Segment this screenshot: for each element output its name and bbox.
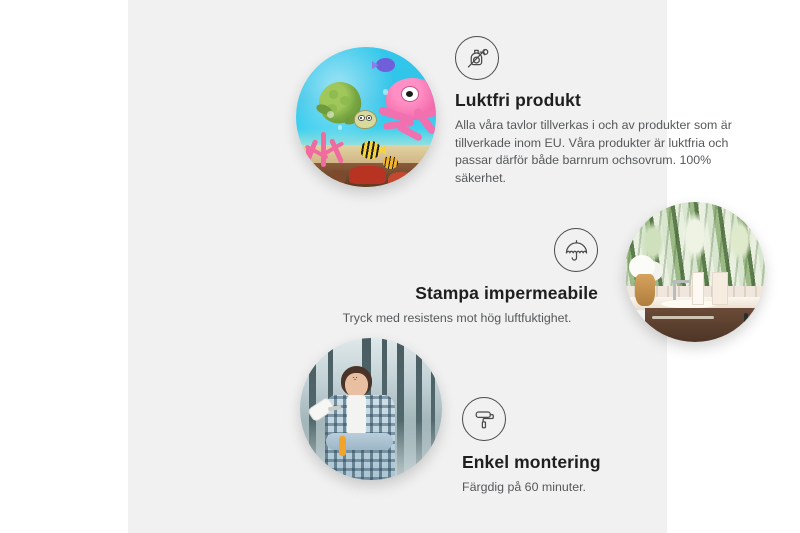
turtle (316, 82, 375, 132)
feature-title: Stampa impermeabile (316, 283, 598, 304)
orange-grip (339, 436, 346, 456)
screenshot-root: Luktfri produkt Alla våra tavlor tillver… (0, 0, 800, 533)
roller-handle (328, 405, 342, 411)
underwater-kids-mural-thumbnail[interactable] (296, 47, 436, 187)
feature-title: Luktfri produkt (455, 90, 755, 111)
woman-painter (320, 364, 400, 480)
woman-with-paint-roller-forest-thumbnail[interactable] (300, 338, 442, 480)
soap-bottle (692, 272, 704, 305)
cabinet-handle (744, 313, 748, 332)
bathroom-tropical-leaf-wallpaper-thumbnail[interactable] (625, 202, 765, 342)
vanity-cabinet (645, 308, 765, 342)
feature-waterproof: Stampa impermeabile Tryck med resistens … (316, 228, 598, 328)
rock-small (330, 170, 347, 183)
feature-description: Tryck med resistens mot hög luftfuktighe… (316, 310, 598, 328)
feature-description: Färgdig på 60 minuter. (462, 479, 742, 497)
drawer-handle (652, 316, 715, 319)
fish-yellow-2 (383, 156, 398, 169)
eye-right (356, 377, 357, 378)
paint-roller-icon (462, 397, 506, 441)
bathroom-scene (625, 202, 765, 342)
feature-description: Alla våra tavlor tillverkas i och av pro… (455, 117, 755, 187)
towel-roll (712, 272, 728, 305)
faucet (673, 280, 676, 300)
forest-scene (300, 338, 442, 480)
underwater-scene (296, 47, 436, 187)
no-odor-perfume-bottle-icon (455, 36, 499, 80)
coral-pink-2 (296, 145, 321, 170)
rock-red-2 (388, 172, 413, 186)
feature-odorless: Luktfri produkt Alla våra tavlor tillver… (455, 36, 755, 187)
smile (354, 379, 357, 380)
flower-vase (628, 255, 662, 305)
octopus-eye (401, 86, 419, 102)
umbrella-icon (554, 228, 598, 272)
feature-title: Enkel montering (462, 452, 742, 473)
feature-easy-mounting: Enkel montering Färgdig på 60 minuter. (462, 397, 742, 497)
turtle-head (354, 110, 377, 129)
eye-left (353, 377, 354, 378)
cabinet-handle-2 (755, 313, 759, 332)
gold-vase (635, 274, 654, 305)
rock-red (349, 166, 385, 184)
content-panel: Luktfri produkt Alla våra tavlor tillver… (128, 0, 667, 533)
